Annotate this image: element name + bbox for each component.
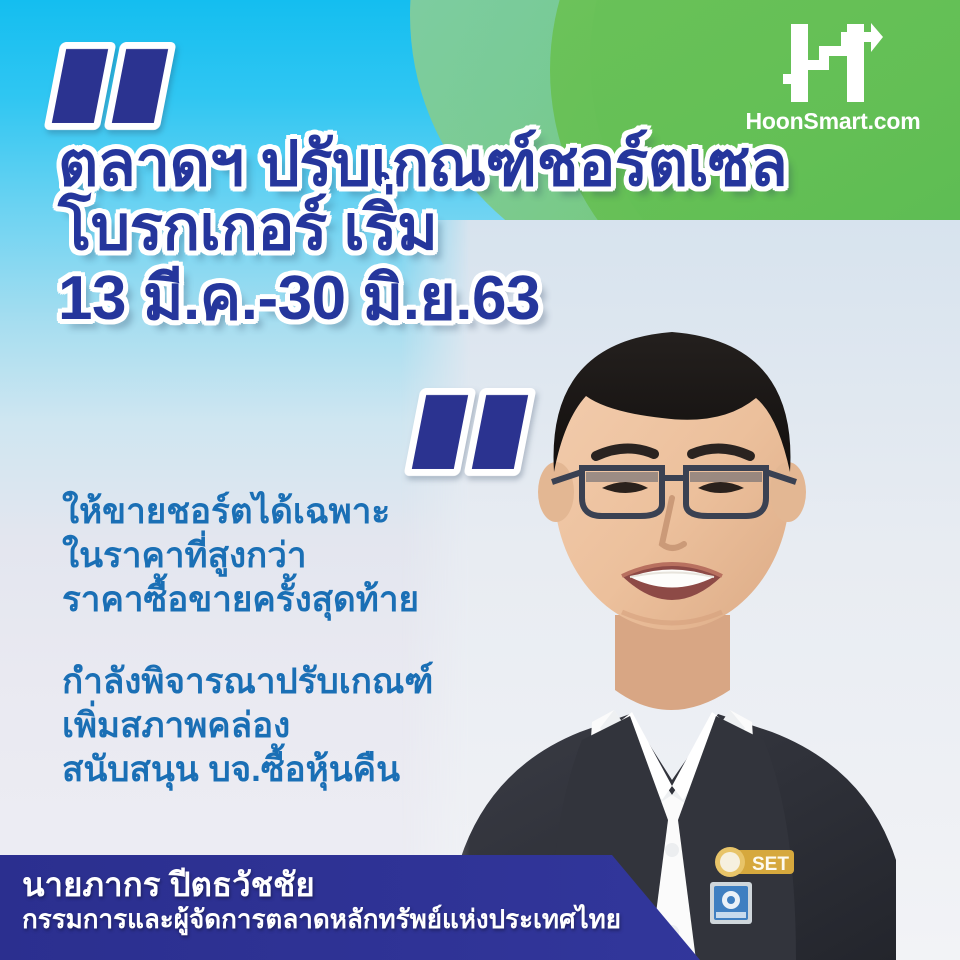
brand-logo[interactable]: HoonSmart.com [728,18,938,133]
body-block-1-line-3: ราคาซื้อขายครั้งสุดท้าย [62,578,419,622]
body-block-2-line-2: เพิ่มสภาพคล่อง [62,704,433,748]
body-block-2: กำลังพิจารณาปรับเกณฑ์ เพิ่มสภาพคล่อง สนั… [62,660,433,792]
speaker-banner: นายภากร ปีตธวัชชัย กรรมการและผู้จัดการตล… [0,855,960,960]
headline-line-1: ตลาดฯ ปรับเกณฑ์ชอร์ตเซล [58,133,787,197]
headline-line-2: โบรกเกอร์ เริ่ม [58,197,787,261]
body-block-1-line-2: ในราคาที่สูงกว่า [62,534,419,578]
speaker-title: กรรมการและผู้จัดการตลาดหลักทรัพย์แห่งประ… [22,905,621,935]
brand-logo-text: HoonSmart.com [728,110,938,133]
headline-date-line: 13 มี.ค.-30 มิ.ย.63 [58,267,787,331]
hoonsmart-h-arrow-icon [773,18,893,108]
speaker-name: นายภากร ปีตธวัชชัย [22,867,621,903]
speaker-banner-text: นายภากร ปีตธวัชชัย กรรมการและผู้จัดการตล… [22,867,621,935]
headline: ตลาดฯ ปรับเกณฑ์ชอร์ตเซล โบรกเกอร์ เริ่ม … [58,133,787,331]
body-block-2-line-1: กำลังพิจารณาปรับเกณฑ์ [62,660,433,704]
body-block-2-line-3: สนับสนุน บจ.ซื้อหุ้นคืน [62,748,433,792]
body-block-1-line-1: ให้ขายชอร์ตได้เฉพาะ [62,490,419,534]
infographic-poster: HoonSmart.com [0,0,960,960]
quote-open-bar-2 [103,42,176,130]
body-block-1: ให้ขายชอร์ตได้เฉพาะ ในราคาที่สูงกว่า ราค… [62,490,419,622]
